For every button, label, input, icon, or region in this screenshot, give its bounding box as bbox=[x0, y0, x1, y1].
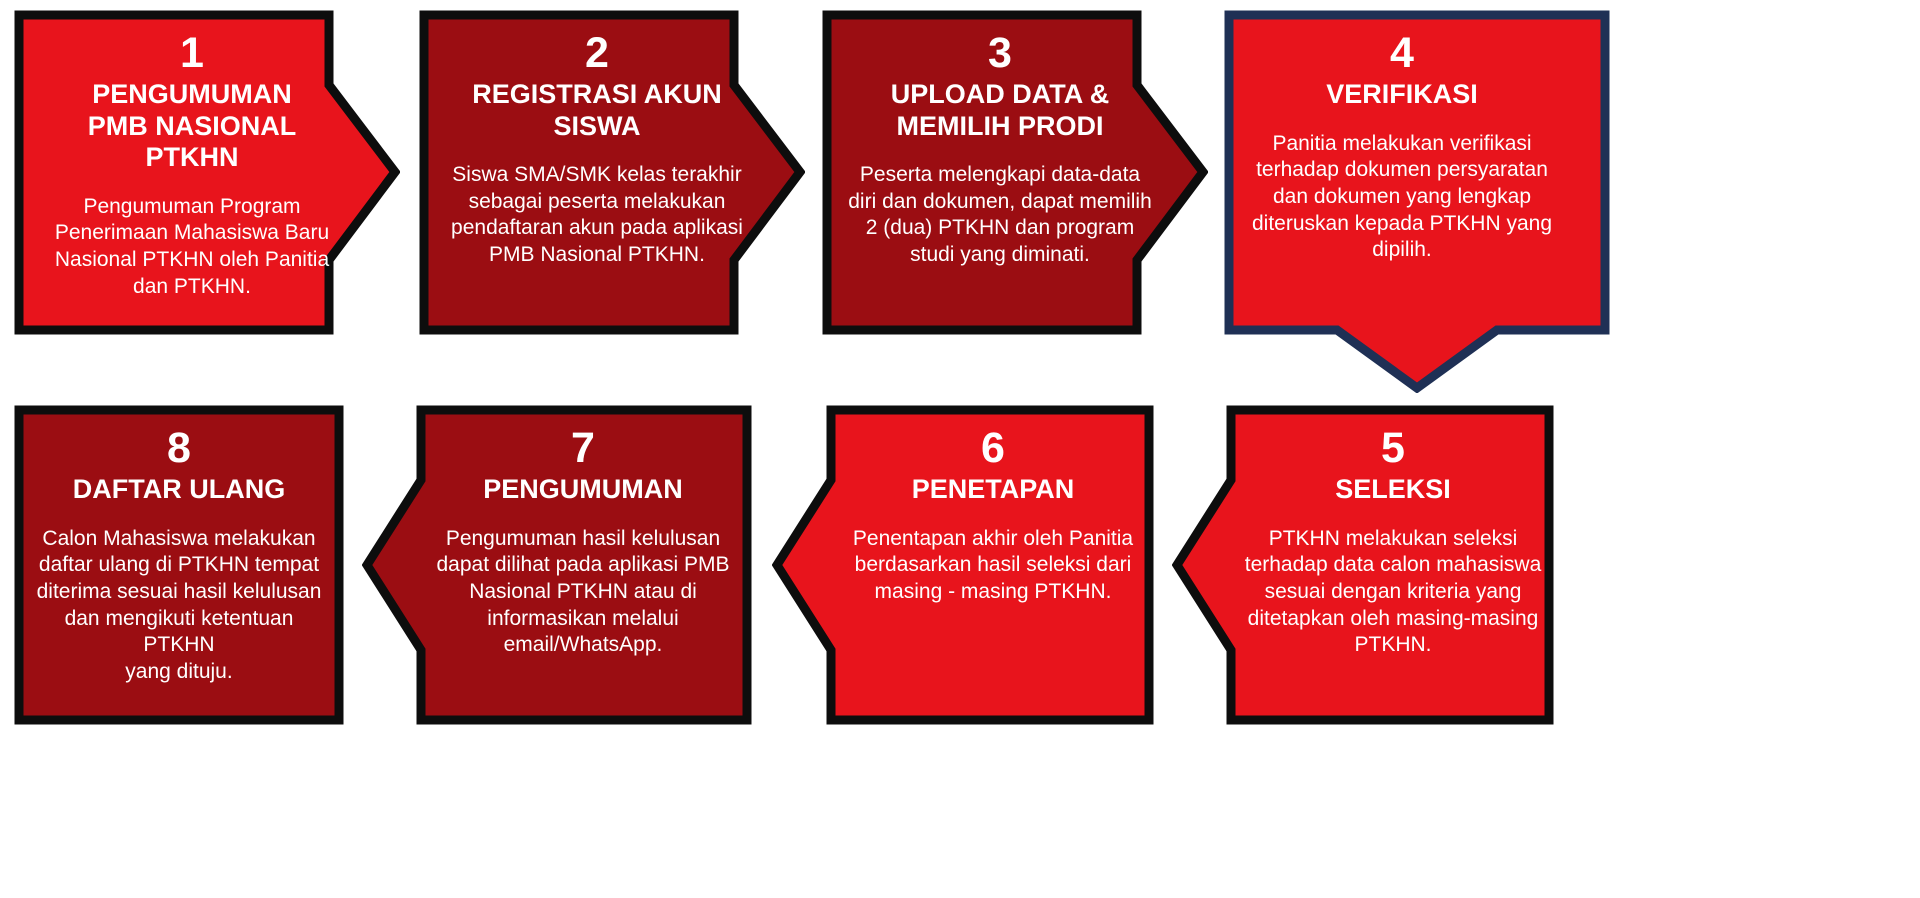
flow-step-3[interactable]: 3 UPLOAD DATA & MEMILIH PRODI Peserta me… bbox=[822, 10, 1208, 335]
step-8-description: Calon Mahasiswa melakukan daftar ulang d… bbox=[28, 526, 330, 686]
step-5-description: PTKHN melakukan seleksi terhadap data ca… bbox=[1245, 526, 1542, 659]
step-2-title: REGISTRASI AKUN SISWA bbox=[472, 79, 722, 142]
step-5-content: 5 SELEKSI PTKHN melakukan seleksi terhad… bbox=[1244, 427, 1542, 659]
flow-step-4[interactable]: 4 VERIFIKASI Panitia melakukan verifikas… bbox=[1224, 10, 1610, 393]
flow-step-6[interactable]: 6 PENETAPAN Penentapan akhir oleh Paniti… bbox=[772, 405, 1154, 725]
step-5-number: 5 bbox=[1381, 427, 1405, 470]
step-4-description: Panitia melakukan verifikasi terhadap do… bbox=[1252, 131, 1552, 264]
step-1-description: Pengumuman Program Penerimaan Mahasiswa … bbox=[55, 194, 329, 301]
flow-step-5[interactable]: 5 SELEKSI PTKHN melakukan seleksi terhad… bbox=[1172, 405, 1554, 725]
step-8-number: 8 bbox=[167, 427, 191, 470]
flow-step-8[interactable]: 8 DAFTAR ULANG Calon Mahasiswa melakukan… bbox=[14, 405, 344, 725]
step-5-title: SELEKSI bbox=[1335, 474, 1451, 506]
step-8-title: DAFTAR ULANG bbox=[73, 474, 285, 506]
step-6-description: Penentapan akhir oleh Panitia berdasarka… bbox=[853, 526, 1133, 606]
step-3-title: UPLOAD DATA & MEMILIH PRODI bbox=[891, 79, 1109, 142]
step-4-number: 4 bbox=[1390, 32, 1414, 75]
flow-step-2[interactable]: 2 REGISTRASI AKUN SISWA Siswa SMA/SMK ke… bbox=[419, 10, 805, 335]
step-1-content: 1 PENGUMUMAN PMB NASIONAL PTKHN Pengumum… bbox=[32, 32, 352, 300]
step-3-description: Peserta melengkapi data-data diri dan do… bbox=[848, 162, 1152, 269]
step-6-number: 6 bbox=[981, 427, 1005, 470]
step-2-content: 2 REGISTRASI AKUN SISWA Siswa SMA/SMK ke… bbox=[437, 32, 757, 269]
step-1-number: 1 bbox=[180, 32, 204, 75]
step-7-number: 7 bbox=[571, 427, 595, 470]
step-8-content: 8 DAFTAR ULANG Calon Mahasiswa melakukan… bbox=[28, 427, 330, 686]
step-2-description: Siswa SMA/SMK kelas terakhir sebagai pes… bbox=[451, 162, 743, 269]
step-7-content: 7 PENGUMUMAN Pengumuman hasil kelulusan … bbox=[428, 427, 738, 659]
flow-step-7[interactable]: 7 PENGUMUMAN Pengumuman hasil kelulusan … bbox=[362, 405, 752, 725]
step-7-description: Pengumuman hasil kelulusan dapat dilihat… bbox=[436, 526, 729, 659]
step-1-title: PENGUMUMAN PMB NASIONAL PTKHN bbox=[88, 79, 297, 174]
step-2-number: 2 bbox=[585, 32, 609, 75]
step-4-content: 4 VERIFIKASI Panitia melakukan verifikas… bbox=[1242, 32, 1562, 264]
step-6-content: 6 PENETAPAN Penentapan akhir oleh Paniti… bbox=[844, 427, 1142, 606]
step-4-title: VERIFIKASI bbox=[1326, 79, 1478, 111]
step-7-title: PENGUMUMAN bbox=[483, 474, 683, 506]
step-3-content: 3 UPLOAD DATA & MEMILIH PRODI Peserta me… bbox=[840, 32, 1160, 269]
flowchart-canvas: 1 PENGUMUMAN PMB NASIONAL PTKHN Pengumum… bbox=[0, 0, 1920, 898]
step-3-number: 3 bbox=[988, 32, 1012, 75]
flow-step-1[interactable]: 1 PENGUMUMAN PMB NASIONAL PTKHN Pengumum… bbox=[14, 10, 400, 335]
step-6-title: PENETAPAN bbox=[912, 474, 1075, 506]
